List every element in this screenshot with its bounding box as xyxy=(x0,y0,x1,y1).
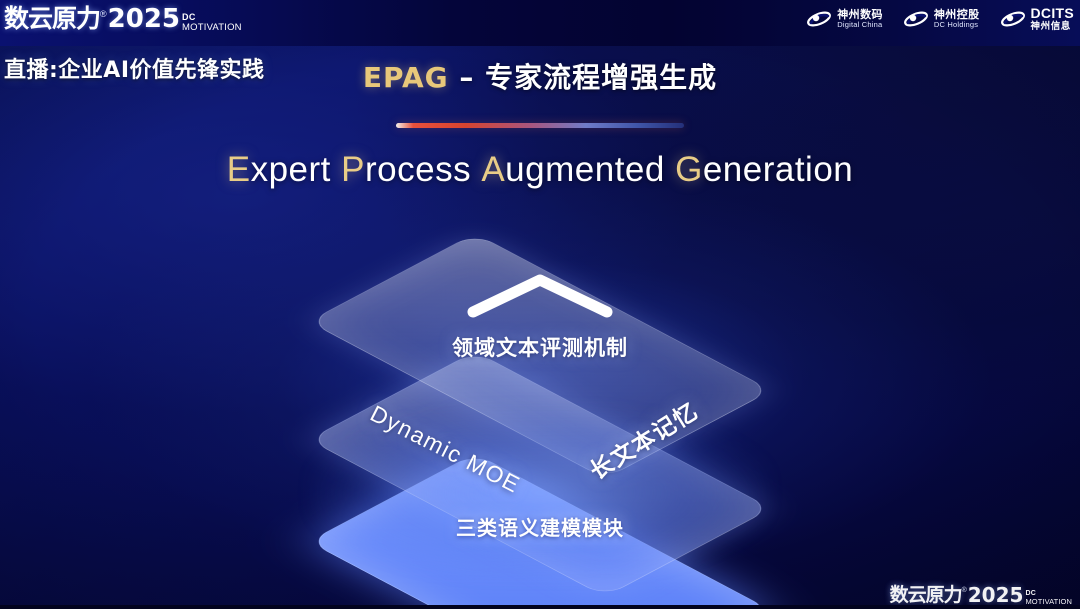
watermark-dc: DC xyxy=(1025,590,1072,597)
partner-label: 神州数码 Digital China xyxy=(837,9,883,29)
stack-label-top: 领域文本评测机制 xyxy=(452,332,628,362)
bottom-letterbox-bar xyxy=(0,605,1080,609)
watermark-year: 2025 xyxy=(968,585,1024,605)
brand-logo-motivation: MOTIVATION xyxy=(182,23,242,33)
live-subtitle: 直播:企业AI价值先锋实践 xyxy=(4,52,265,84)
subtitle-word-rest: eneration xyxy=(703,150,853,189)
subtitle-space xyxy=(471,150,481,189)
subtitle-word-rest: rocess xyxy=(365,150,471,189)
partner-logo-digital-china: 神州数码 Digital China xyxy=(806,8,883,30)
swirl-logo-icon xyxy=(1000,8,1026,30)
partner-name-en: 神州信息 xyxy=(1031,22,1075,32)
footer-watermark-logo: 数云原力 ® 2025 DC MOTIVATION xyxy=(890,585,1072,605)
partner-label: 神州控股 DC Holdings xyxy=(934,9,980,29)
gradient-divider xyxy=(396,123,684,128)
partner-name-cn: 神州控股 xyxy=(934,9,980,21)
partner-name-en: DC Holdings xyxy=(934,21,980,29)
partner-name-cn: DCITS xyxy=(1031,6,1075,21)
stack-glow xyxy=(310,408,770,578)
subtitle-word-rest: ugmented xyxy=(505,150,665,189)
watermark-motivation: MOTIVATION xyxy=(1025,598,1072,606)
watermark-cn: 数云原力 xyxy=(890,585,962,605)
slide-canvas: 数云原力 ® 2025 DC MOTIVATION 神州数码 xyxy=(0,0,1080,609)
page-subtitle-en: Expert Process Augmented Generation xyxy=(0,150,1080,190)
brand-logo: 数云原力 ® 2025 DC MOTIVATION xyxy=(4,2,242,32)
subtitle-word-rest: xpert xyxy=(251,150,331,189)
subtitle-word-initial: G xyxy=(675,150,703,189)
partner-logo-dc-holdings: 神州控股 DC Holdings xyxy=(903,8,980,30)
brand-logo-registered: ® xyxy=(100,6,107,22)
partner-logo-dcits: DCITS 神州信息 xyxy=(1000,6,1075,32)
subtitle-word-initial: E xyxy=(227,150,251,189)
subtitle-word-initial: A xyxy=(481,150,505,189)
subtitle-space xyxy=(331,150,341,189)
brand-logo-dc: DC xyxy=(182,13,242,22)
watermark-dc-motivation: DC MOTIVATION xyxy=(1025,590,1072,606)
watermark-registered: ® xyxy=(962,585,967,597)
brand-logo-dc-motivation: DC MOTIVATION xyxy=(182,13,242,33)
brand-logo-cn: 数云原力 xyxy=(4,6,100,32)
swirl-logo-icon xyxy=(806,8,832,30)
swirl-logo-icon xyxy=(903,8,929,30)
brand-logo-year: 2025 xyxy=(108,6,180,32)
page-title-rest: – 专家流程增强生成 xyxy=(449,61,718,94)
top-banner: 数云原力 ® 2025 DC MOTIVATION 神州数码 xyxy=(0,0,1080,46)
subtitle-space xyxy=(665,150,675,189)
page-title-accent: EPAG xyxy=(363,61,449,94)
partner-label: DCITS 神州信息 xyxy=(1031,6,1075,32)
partner-name-en: Digital China xyxy=(837,21,883,29)
subtitle-word-initial: P xyxy=(341,150,365,189)
partner-logo-group: 神州数码 Digital China 神州控股 DC Holdings xyxy=(806,6,1074,32)
stack-label-bottom: 三类语义建模模块 xyxy=(456,512,624,541)
chevron-up-icon xyxy=(465,272,615,318)
partner-name-cn: 神州数码 xyxy=(837,9,883,21)
